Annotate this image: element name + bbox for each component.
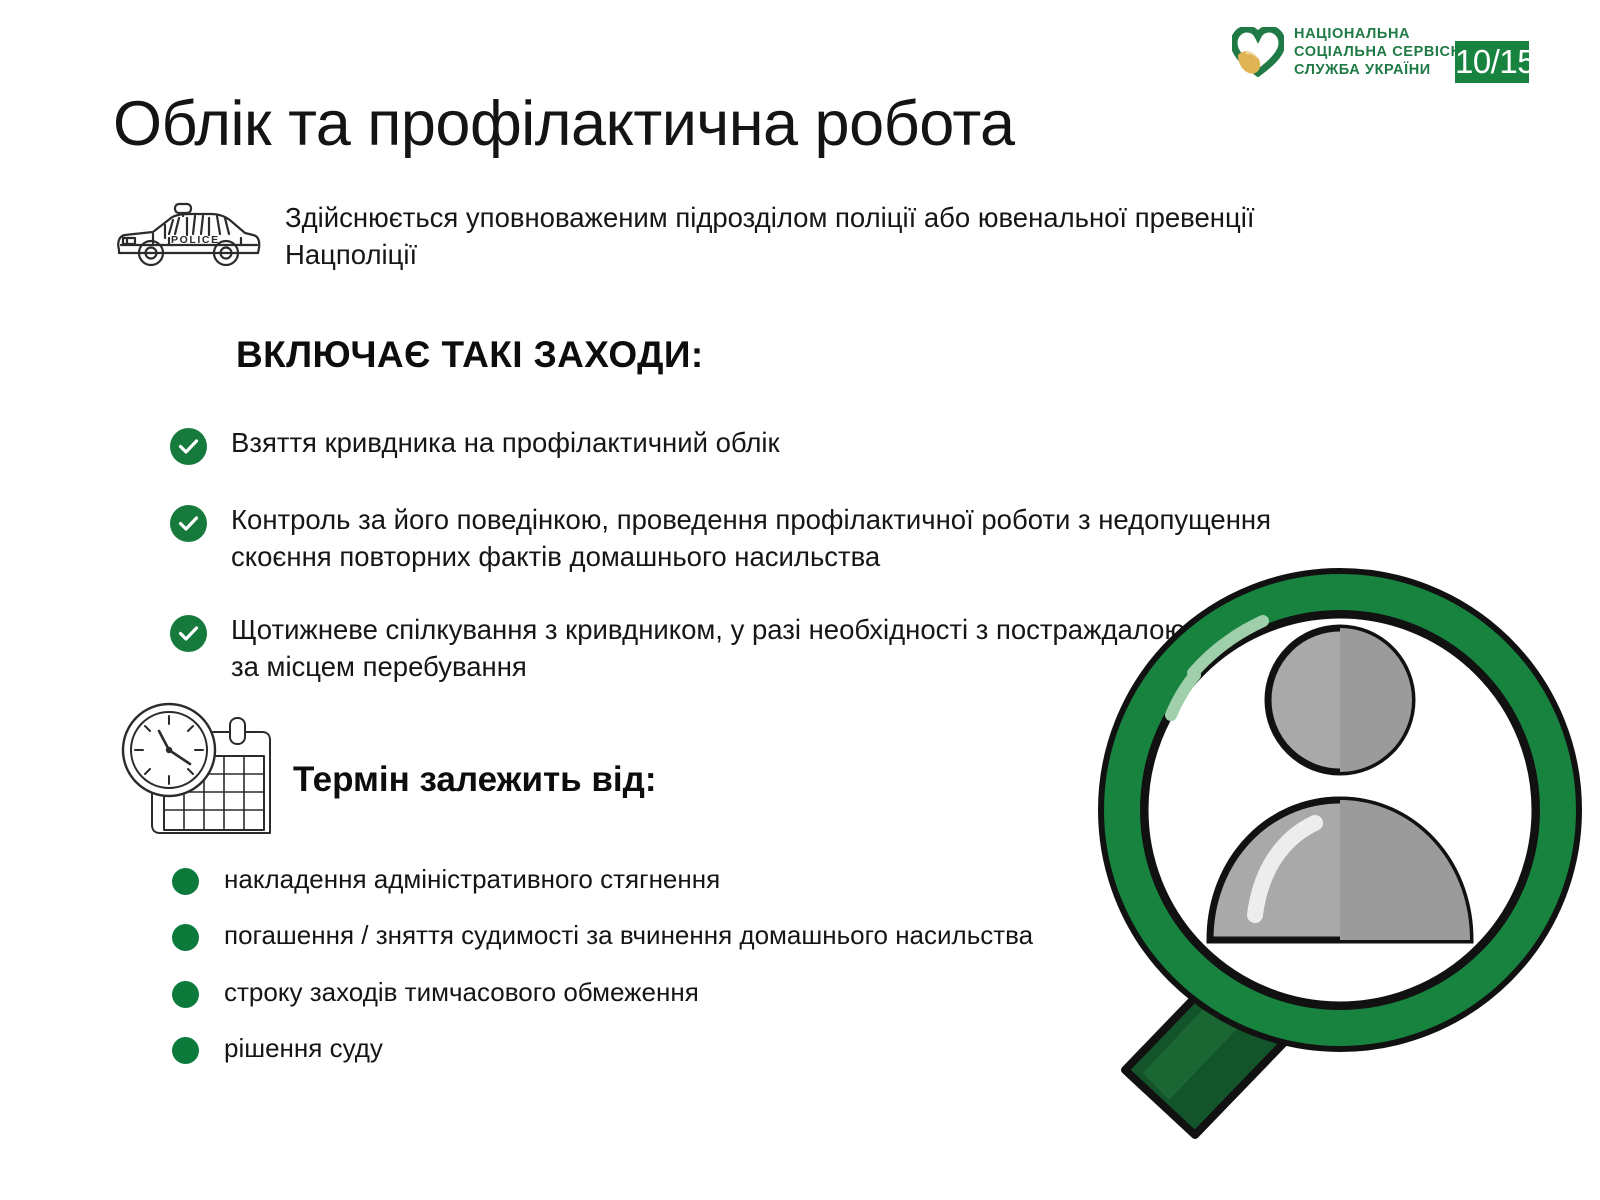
bullet-dot-icon [172, 924, 199, 951]
measures-heading: ВКЛЮЧАЄ ТАКІ ЗАХОДИ: [236, 334, 704, 376]
brand-logo-block: НАЦІОНАЛЬНА СОЦІАЛЬНА СЕРВІСНА СЛУЖБА УК… [1232, 26, 1473, 79]
list-item: рішення суду [172, 1031, 1072, 1065]
svg-text:POLICE: POLICE [171, 234, 220, 246]
check-icon [170, 615, 207, 652]
slide-root: НАЦІОНАЛЬНА СОЦІАЛЬНА СЕРВІСНА СЛУЖБА УК… [0, 0, 1600, 1200]
list-item: строку заходів тимчасового обмеження [172, 975, 1072, 1009]
clock-calendar-icon [112, 700, 284, 835]
list-item-label: строку заходів тимчасового обмеження [224, 975, 699, 1009]
page-title: Облік та профілактична робота [113, 88, 1015, 160]
list-item: накладення адміністративного стягнення [172, 862, 1072, 896]
intro-row: POLICE Здійснюється уповноваженим підроз… [113, 196, 1313, 274]
bullet-dot-icon [172, 868, 199, 895]
magnifier-person-illustration [1085, 565, 1595, 1145]
police-car-icon: POLICE [113, 198, 263, 270]
page-number-badge: 10/15 [1455, 41, 1529, 83]
list-item: Взяття кривдника на профілактичний облік [170, 425, 1320, 465]
bullet-dot-icon [172, 1037, 199, 1064]
check-icon [170, 505, 207, 542]
nssu-heart-hand-icon [1232, 27, 1284, 77]
list-item: погашення / зняття судимості за вчинення… [172, 918, 1072, 952]
brand-line-3: СЛУЖБА УКРАЇНИ [1294, 62, 1473, 78]
check-icon [170, 428, 207, 465]
list-item-label: Взяття кривдника на профілактичний облік [231, 425, 780, 462]
brand-line-1: НАЦІОНАЛЬНА [1294, 26, 1473, 42]
bullet-dot-icon [172, 981, 199, 1008]
intro-text: Здійснюється уповноваженим підрозділом п… [285, 196, 1305, 274]
term-heading: Термін залежить від: [293, 760, 657, 800]
term-list: накладення адміністративного стягнення п… [172, 862, 1072, 1087]
list-item-label: накладення адміністративного стягнення [224, 862, 720, 896]
list-item-label: погашення / зняття судимості за вчинення… [224, 918, 1033, 952]
brand-line-2: СОЦІАЛЬНА СЕРВІСНА [1294, 44, 1473, 60]
brand-text: НАЦІОНАЛЬНА СОЦІАЛЬНА СЕРВІСНА СЛУЖБА УК… [1294, 26, 1473, 79]
list-item-label: рішення суду [224, 1031, 383, 1065]
